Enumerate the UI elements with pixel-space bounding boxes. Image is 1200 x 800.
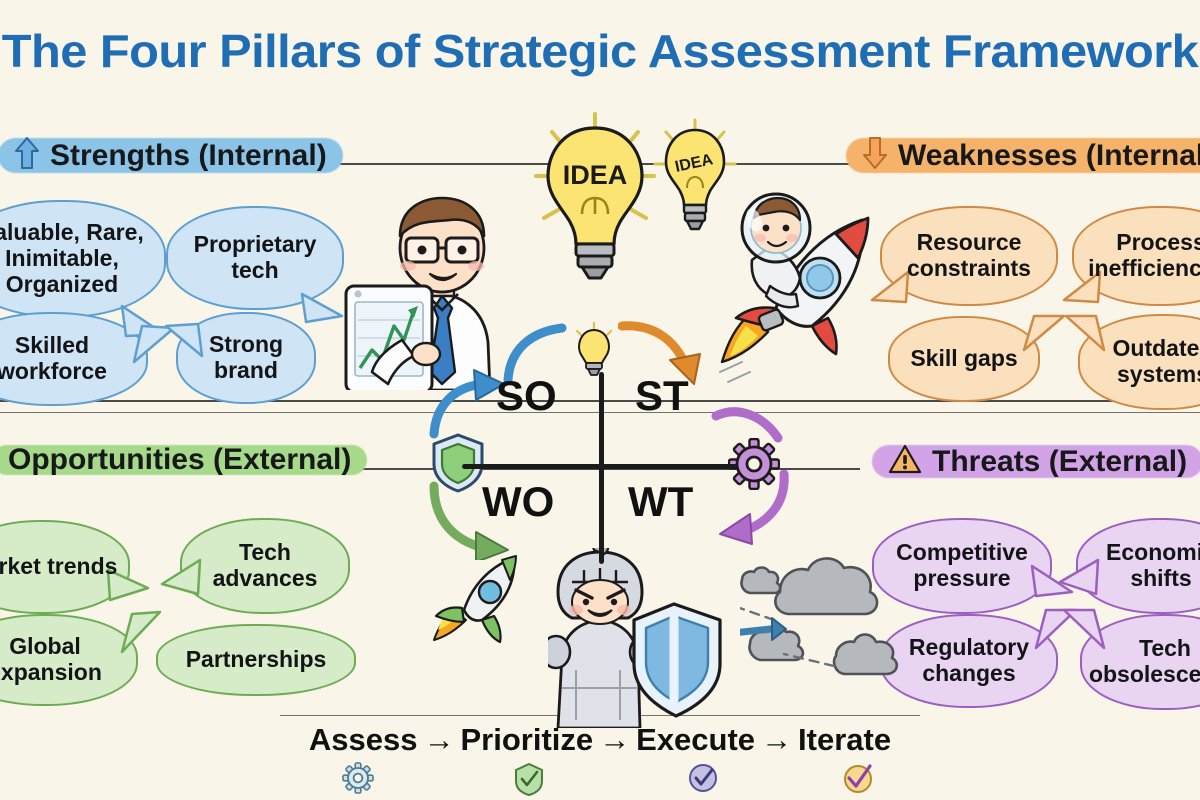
bubble-opportunities-4[interactable]: Partnerships — [156, 624, 356, 696]
bubble-opportunities-2[interactable]: Tech advances — [180, 518, 350, 614]
matrix-cell-st[interactable]: ST — [635, 372, 689, 420]
quadrant-header-strengths[interactable]: Strengths (Internal) — [14, 136, 327, 175]
lightbulb-large-icon: IDEA — [530, 110, 660, 290]
matrix-horizontal-axis — [462, 464, 738, 469]
shield-check-icon — [513, 762, 545, 796]
quadrant-header-threats-label: Threats (External) — [932, 445, 1187, 479]
flow-arrow-1: → — [417, 722, 460, 757]
check-badge-icon — [842, 762, 874, 794]
bubble-tail — [296, 290, 346, 330]
process-flow: Assess→Prioritize→Execute→Iterate — [0, 722, 1200, 758]
process-step-assess[interactable]: Assess — [309, 722, 418, 757]
svg-text:IDEA: IDEA — [563, 160, 628, 190]
warning-triangle-icon — [888, 443, 922, 480]
matrix-cell-wt[interactable]: WT — [628, 478, 693, 526]
bubble-tail — [1020, 312, 1068, 354]
process-step-prioritize[interactable]: Prioritize — [460, 722, 593, 757]
knight-with-shield-illustration — [548, 548, 738, 728]
flow-arrow-3: → — [755, 722, 798, 757]
quadrant-header-opportunities[interactable]: Opportunities (External) — [8, 443, 351, 477]
process-step-iterate[interactable]: Iterate — [798, 722, 891, 757]
up-arrow-icon — [14, 136, 40, 175]
quadrant-header-opportunities-label: Opportunities (External) — [8, 443, 351, 477]
so-st-wo-wt-matrix: SO ST WO WT — [470, 378, 730, 558]
diagram-canvas: The Four Pillars of Strategic Assessment… — [0, 0, 1200, 800]
matrix-cell-so[interactable]: SO — [496, 372, 557, 420]
small-rocket-illustration — [424, 548, 524, 648]
page-title: The Four Pillars of Strategic Assessment… — [0, 24, 1200, 78]
down-arrow-icon — [862, 136, 888, 175]
gear-icon — [342, 762, 374, 794]
quadrant-header-threats[interactable]: Threats (External) — [888, 443, 1187, 480]
bubble-weaknesses-3[interactable]: Skill gaps — [888, 316, 1040, 402]
flow-arrow-2: → — [593, 722, 636, 757]
matrix-cell-wo[interactable]: WO — [482, 478, 554, 526]
check-circle-icon — [687, 762, 719, 794]
process-step-execute[interactable]: Execute — [636, 722, 755, 757]
quadrant-header-weaknesses[interactable]: Weaknesses (Internal) — [862, 136, 1200, 175]
quadrant-header-strengths-label: Strengths (Internal) — [50, 139, 327, 173]
quadrant-header-weaknesses-label: Weaknesses (Internal) — [898, 139, 1200, 173]
